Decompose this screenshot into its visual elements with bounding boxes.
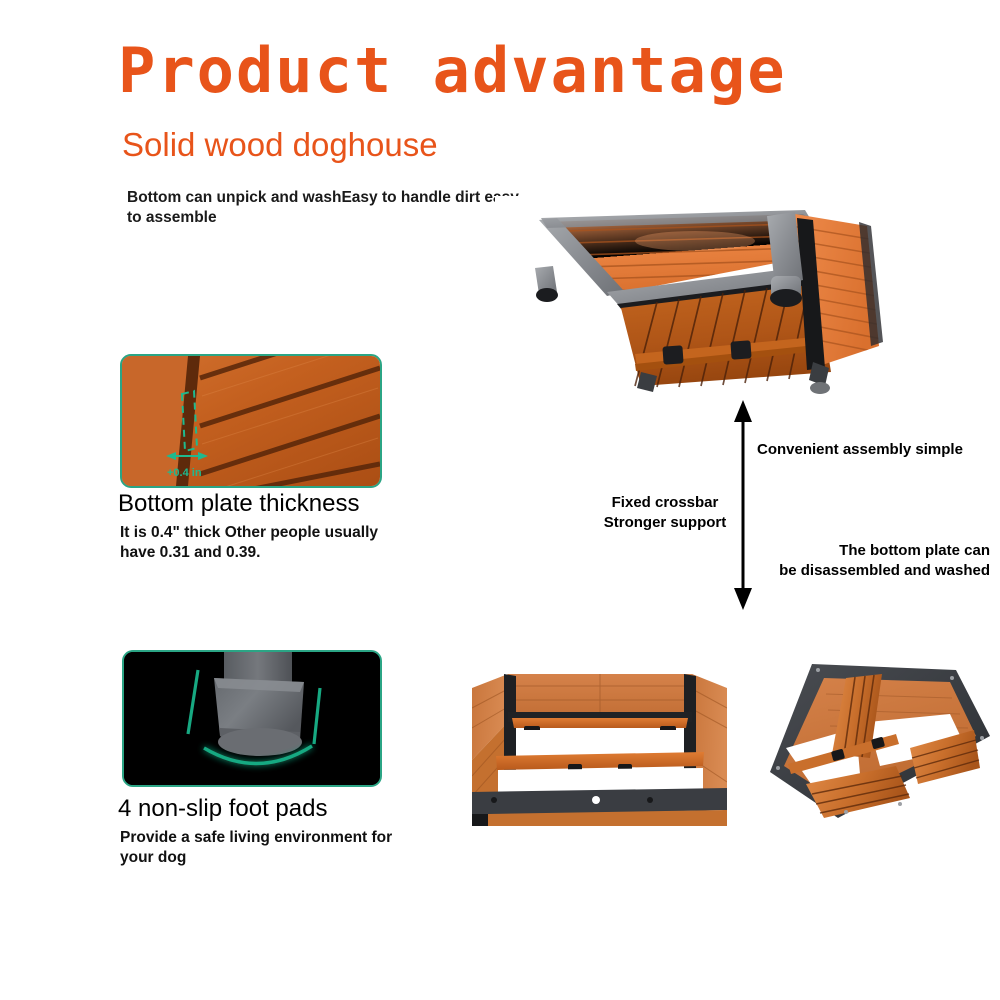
photo-doghouse-underside [495, 196, 895, 401]
feature-title-bottom-plate-thickness: Bottom plate thickness [118, 491, 359, 517]
feature-body-bottom-plate-thickness: It is 0.4" thick Other people usually ha… [120, 523, 395, 563]
page-subtitle: Solid wood doghouse [122, 127, 722, 163]
doghouse-underside-illustration [495, 196, 895, 401]
intro-description: Bottom can unpick and washEasy to handle… [127, 188, 527, 228]
assembly-arrow [726, 400, 760, 610]
annotation-fixed-crossbar: Fixed crossbar Stronger support [600, 493, 730, 532]
page-title: Product advantage [118, 40, 918, 102]
foot-pad-illustration [124, 652, 380, 785]
disassembled-floor-illustration [760, 652, 1000, 828]
thickness-illustration: +0.4 in [122, 356, 380, 486]
photo-disassembled-floor [760, 652, 1000, 828]
thickness-measurement-label: +0.4 in [167, 467, 202, 479]
feature-body-non-slip-foot-pads: Provide a safe living environment for yo… [120, 828, 400, 868]
annotation-convenient-assembly: Convenient assembly simple [757, 440, 987, 460]
callout-bottom-plate-thickness: +0.4 in [120, 354, 382, 488]
photo-interior-crossbar [472, 664, 727, 826]
annotation-bottom-plate-washable: The bottom plate can be disassembled and… [757, 541, 990, 580]
feature-title-non-slip-foot-pads: 4 non-slip foot pads [118, 796, 327, 822]
interior-crossbar-illustration [472, 664, 727, 826]
callout-non-slip-foot-pads [122, 650, 382, 787]
